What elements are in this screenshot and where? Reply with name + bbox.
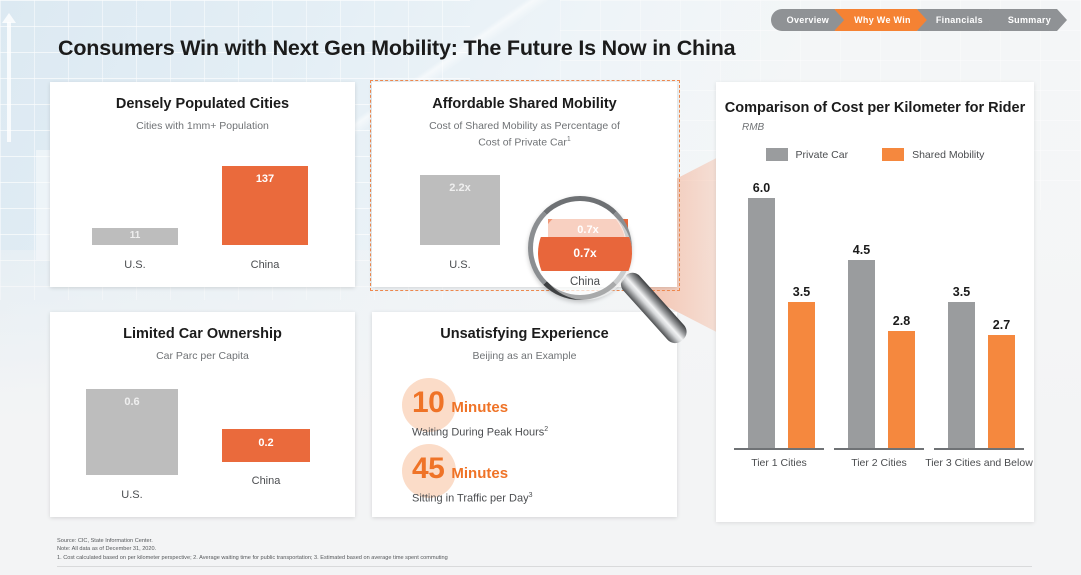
footnote-marker: 3 [529,492,533,499]
stat-description-text: Sitting in Traffic per Day [412,493,529,505]
footnote-source: Source: CIC, State Information Center. [57,537,448,545]
card-subtitle: Car Parc per Capita [50,349,355,363]
card-subtitle: Beijing as an Example [372,349,677,363]
bar-china: 137 [222,166,308,245]
bar-label-us: U.S. [92,259,178,271]
bar-value-us: 2.2x [420,182,500,194]
stat-sitting-in-traffic: 45 Minutes Sitting in Traffic per Day3 [412,452,532,505]
nav-tab-overview[interactable]: Overview [771,9,845,31]
mini-bar-chart-population: 11 U.S. 137 China [50,157,355,287]
group-axis-line [834,448,924,450]
card-subtitle-line2: Cost of Private Car [478,137,567,149]
stat-description: Waiting During Peak Hours2 [412,426,548,439]
nav-tab-financials[interactable]: Financials [916,9,999,31]
card-title: Densely Populated Cities [50,96,355,112]
stat-unit: Minutes [451,465,508,482]
bar-us: 11 [92,228,178,245]
bar-china: 0.2 [222,429,310,462]
bar-shared-mobility: 2.8 [888,331,915,448]
nav-tab-why-we-win[interactable]: Why We Win [834,9,927,31]
legend-item-shared-mobility: Shared Mobility [882,148,984,161]
legend-label-private-car: Private Car [796,149,849,161]
bar-private-car: 3.5 [948,302,975,448]
bar-group-tier-2: 4.5 2.8 Tier 2 Cities [834,198,924,450]
magnifier-ring: 0.7x China [528,196,632,300]
panel-title: Comparison of Cost per Kilometer for Rid… [716,100,1034,116]
bar-group-tier-3: 3.5 2.7 Tier 3 Cities and Below [934,198,1024,450]
stat-number: 45 [412,452,444,486]
bar-value-shared-mobility: 3.5 [774,285,829,299]
group-label-tier-3: Tier 3 Cities and Below [920,456,1038,470]
bar-shared-mobility: 2.7 [988,335,1015,448]
section-nav[interactable]: OverviewWhy We WinFinancialsSummary [771,9,1067,31]
footnote-numbered: 1. Cost calculated based on per kilomete… [57,554,448,562]
bar-label-us: U.S. [86,489,178,501]
chart-legend: Private Car Shared Mobility [716,148,1034,161]
bar-value-china: 0.2 [222,437,310,449]
magnified-bar-label: China [538,276,632,288]
page-title: Consumers Win with Next Gen Mobility: Th… [58,36,735,61]
bar-private-car: 6.0 [748,198,775,448]
bar-value-us: 0.6 [86,396,178,408]
bar-label-china: China [222,475,310,487]
legend-item-private-car: Private Car [766,148,849,161]
bar-shared-mobility: 3.5 [788,302,815,448]
group-axis-line [934,448,1024,450]
bar-label-us: U.S. [420,259,500,271]
card-unsatisfying-experience: Unsatisfying Experience Beijing as an Ex… [372,312,677,517]
bar-us: 2.2x [420,175,500,245]
stat-description: Sitting in Traffic per Day3 [412,492,532,505]
card-subtitle: Cities with 1mm+ Population [50,119,355,133]
bar-value-shared-mobility: 2.8 [874,314,929,328]
footnotes: Source: CIC, State Information Center. N… [57,537,448,562]
stat-number: 10 [412,386,444,420]
nav-tab-summary[interactable]: Summary [988,9,1067,31]
stat-waiting-peak-hours: 10 Minutes Waiting During Peak Hours2 [412,386,548,439]
bar-value-private-car: 4.5 [834,243,889,257]
legend-label-shared-mobility: Shared Mobility [912,149,984,161]
footnote-marker: 2 [544,426,548,433]
bar-value-china: 137 [222,173,308,185]
bar-value-us: 11 [92,230,178,241]
legend-swatch-private-car [766,148,788,161]
bar-value-shared-mobility: 2.7 [974,318,1029,332]
footnote-marker: 1 [567,136,571,143]
card-subtitle: Cost of Shared Mobility as Percentage of… [372,119,677,150]
stat-description-text: Waiting During Peak Hours [412,427,544,439]
grouped-bar-chart: 6.0 3.5 Tier 1 Cities 4.5 2.8 Tier 2 Cit… [734,200,1020,508]
footer-divider [57,566,1032,567]
footnote-note: Note: All data as of December 31, 2020. [57,545,448,553]
bar-label-china: China [222,259,308,271]
bar-value-private-car: 3.5 [934,285,989,299]
bar-group-tier-1: 6.0 3.5 Tier 1 Cities [734,198,824,450]
card-limited-car-ownership: Limited Car Ownership Car Parc per Capit… [50,312,355,517]
card-densely-populated-cities: Densely Populated Cities Cities with 1mm… [50,82,355,287]
bar-us: 0.6 [86,389,178,475]
group-axis-line [734,448,824,450]
mini-bar-chart-ownership: 0.6 U.S. 0.2 China [50,387,355,517]
magnified-bar-china: 0.7x [538,237,632,271]
magnified-bar-value: 0.7x [538,246,632,260]
card-subtitle-line1: Cost of Shared Mobility as Percentage of [429,120,620,132]
bar-value-private-car: 6.0 [734,181,789,195]
bar-private-car: 4.5 [848,260,875,448]
magnifier-lens: 0.7x China [538,206,632,300]
stat-unit: Minutes [451,399,508,416]
legend-swatch-shared-mobility [882,148,904,161]
card-title: Limited Car Ownership [50,326,355,342]
panel-cost-comparison: Comparison of Cost per Kilometer for Rid… [716,82,1034,522]
background-arrow-icon [7,22,11,142]
card-title: Affordable Shared Mobility [372,96,677,112]
panel-subtitle: RMB [742,122,1034,133]
card-title: Unsatisfying Experience [372,326,677,342]
